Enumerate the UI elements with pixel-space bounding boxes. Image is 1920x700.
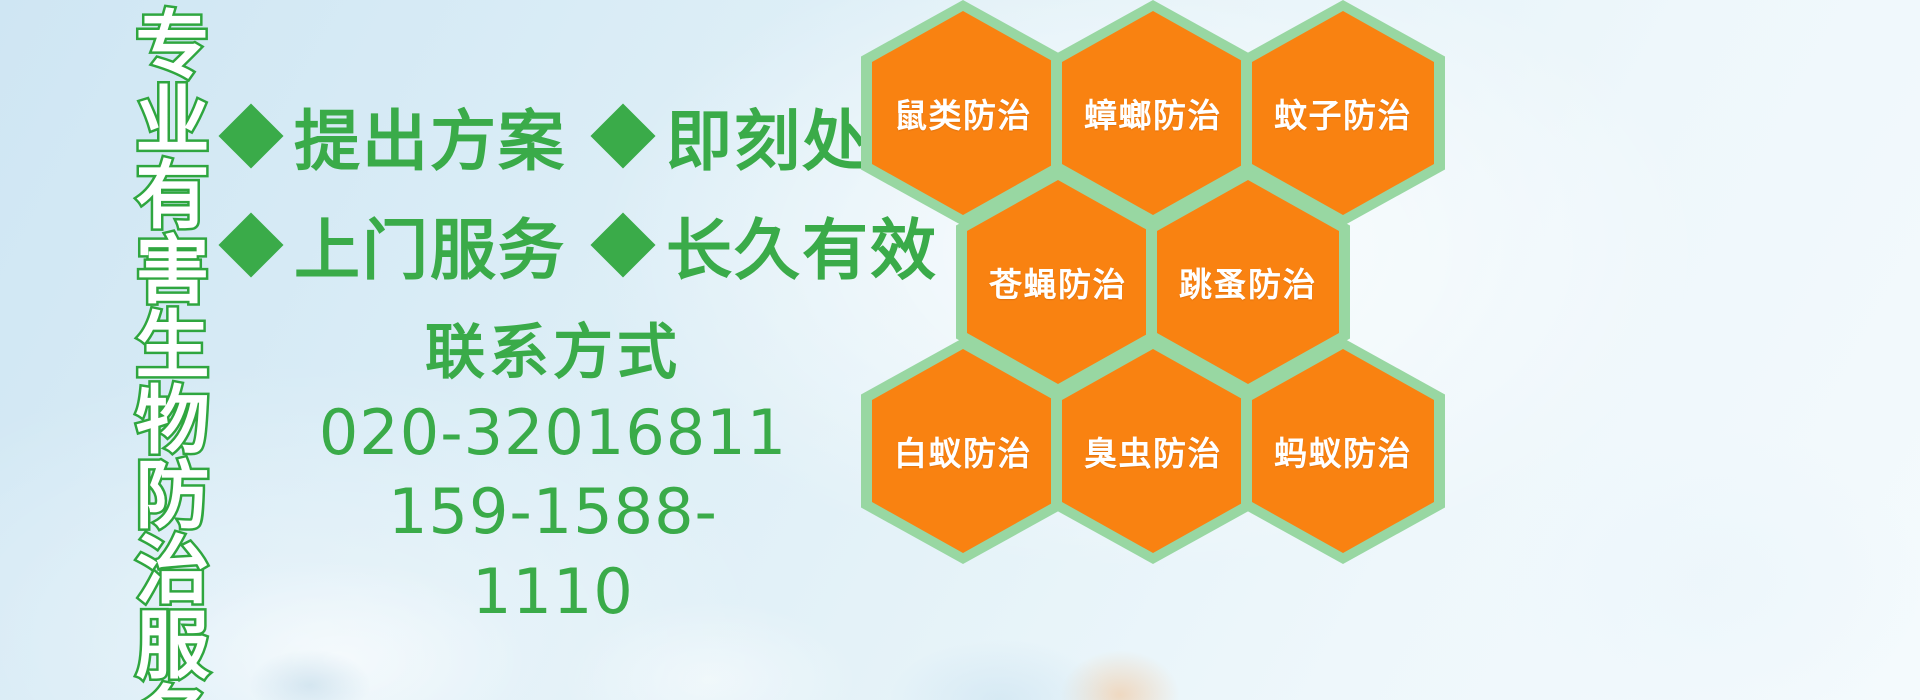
diamond-bullet-icon — [590, 212, 655, 277]
hex-label-bedbug-control: 臭虫防治 — [1084, 427, 1222, 475]
hex-label-mosquito-control: 蚊子防治 — [1274, 89, 1412, 137]
feature-label-propose-plan: 提出方案 — [294, 88, 566, 184]
diamond-bullet-icon — [218, 212, 283, 277]
contact-block: 联系方式 020-32016811 159-1588-1110 — [318, 318, 788, 631]
phone-number-mobile[interactable]: 159-1588-1110 — [318, 472, 788, 631]
diamond-bullet-icon — [218, 103, 283, 168]
hex-label-cockroach-control: 蟑螂防治 — [1084, 89, 1222, 137]
hex-label-rodent-control: 鼠类防治 — [894, 89, 1032, 137]
diamond-bullet-icon — [590, 103, 655, 168]
hex-label-fly-control: 苍蝇防治 — [989, 258, 1127, 306]
contact-heading: 联系方式 — [318, 318, 788, 387]
feature-label-door-to-door-service: 上门服务 — [294, 197, 566, 293]
feature-row-2: 上门服务 长久有效 — [228, 197, 938, 293]
feature-row-1: 提出方案 即刻处理 — [228, 88, 938, 184]
background-glow-3 — [1500, 430, 1920, 700]
hex-label-termite-control: 白蚁防治 — [894, 427, 1032, 475]
background-glow-4 — [250, 650, 370, 700]
hex-cell-ant-control[interactable]: 蚂蚁防治 — [1241, 338, 1445, 564]
phone-number-landline[interactable]: 020-32016811 — [318, 393, 788, 472]
vertical-headline: 专业有害生物防治服务 — [108, 6, 204, 700]
honeycomb-service-grid: 鼠类防治 蟑螂防治 蚊子防治 苍蝇防治 跳蚤防治 白蚁防治 — [855, 0, 1475, 700]
hex-label-flea-control: 跳蚤防治 — [1179, 258, 1317, 306]
hex-cell-termite-control[interactable]: 白蚁防治 — [861, 338, 1065, 564]
hex-cell-bedbug-control[interactable]: 臭虫防治 — [1051, 338, 1255, 564]
promo-banner: 专业有害生物防治服务 提出方案 即刻处理 上门服务 长久有效 联系方式 020-… — [0, 0, 1920, 700]
hex-label-ant-control: 蚂蚁防治 — [1274, 427, 1412, 475]
